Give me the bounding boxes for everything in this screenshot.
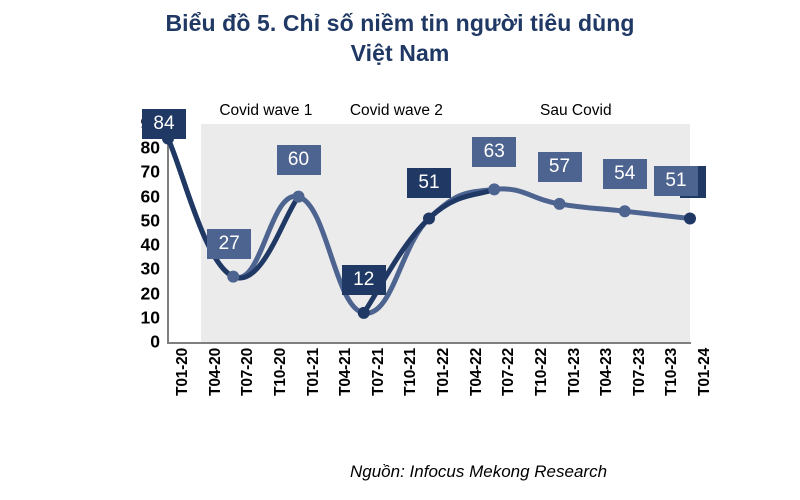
x-tick-label: T04-22	[468, 348, 486, 396]
x-tick-label: T10-22	[533, 348, 551, 396]
y-tick-label: 20	[96, 283, 160, 304]
y-tick-label: 40	[96, 235, 160, 256]
x-tick-label: T01-22	[435, 348, 453, 396]
data-label-T01-23: 57	[538, 152, 582, 182]
y-tick-label: 30	[96, 259, 160, 280]
x-tick-label: T04-20	[207, 348, 225, 396]
x-tick-label: T01-20	[174, 348, 192, 396]
y-tick-label: 60	[96, 186, 160, 207]
x-tick-label: T07-22	[500, 348, 518, 396]
x-tick-label: T10-23	[663, 348, 681, 396]
x-tick-label: T07-23	[631, 348, 649, 396]
x-tick-label: T01-23	[566, 348, 584, 396]
x-axis-line	[167, 342, 691, 344]
x-tick-label: T07-20	[239, 348, 257, 396]
data-label-T07-22: 63	[472, 137, 516, 167]
data-label-T07-21: 12	[342, 265, 386, 295]
source-note: Nguồn: Infocus Mekong Research	[350, 462, 607, 482]
data-label-T01-24: 51	[654, 166, 698, 196]
x-tick-label: T04-21	[337, 348, 355, 396]
data-point-marker	[684, 212, 696, 224]
x-tick-label: T07-21	[370, 348, 388, 396]
band-label-3: Sau Covid	[486, 102, 666, 120]
y-tick-label: 10	[96, 307, 160, 328]
x-tick-label: T10-21	[402, 348, 420, 396]
chart-container: Biểu đồ 5. Chỉ số niềm tin người tiêu dù…	[0, 0, 800, 500]
x-tick-label: T10-20	[272, 348, 290, 396]
data-point-marker	[227, 271, 239, 283]
data-point-marker	[293, 191, 305, 203]
data-point-marker	[554, 198, 566, 210]
y-tick-label: 50	[96, 210, 160, 231]
chart-title-line-2: Việt Nam	[90, 38, 710, 68]
data-point-marker	[619, 205, 631, 217]
x-tick-label: T04-23	[598, 348, 616, 396]
y-tick-label: 0	[96, 332, 160, 353]
data-label-T01-20: 84	[142, 109, 186, 139]
data-point-marker	[423, 212, 435, 224]
data-point-marker	[358, 307, 370, 319]
chart-title: Biểu đồ 5. Chỉ số niềm tin người tiêu dù…	[90, 8, 710, 68]
chart-title-line-1: Biểu đồ 5. Chỉ số niềm tin người tiêu dù…	[90, 8, 710, 38]
x-axis-ticks: T01-20T04-20T07-20T10-20T01-21T04-21T07-…	[168, 348, 690, 448]
band-label-2: Covid wave 2	[306, 102, 486, 120]
data-label-T07-20: 27	[207, 229, 251, 259]
data-label-T01-22: 51	[407, 168, 451, 198]
y-tick-label: 80	[96, 138, 160, 159]
data-label-T07-23: 54	[603, 159, 647, 189]
y-axis-ticks: 9080706050403020100	[96, 124, 160, 342]
data-point-marker	[488, 183, 500, 195]
data-label-T01-21: 60	[277, 145, 321, 175]
x-tick-label: T01-21	[305, 348, 323, 396]
y-tick-label: 70	[96, 162, 160, 183]
x-tick-label: T01-24	[696, 348, 714, 396]
